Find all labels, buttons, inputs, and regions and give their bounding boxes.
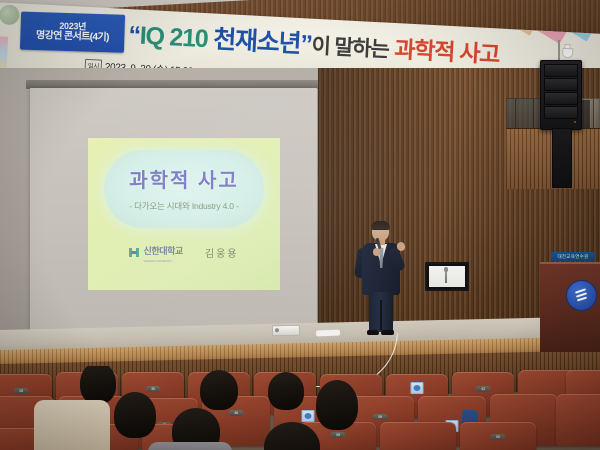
seat[interactable]: 60	[460, 422, 536, 450]
headline-genius-boy: 천재소년	[213, 26, 302, 59]
monitor-mic-stand-image	[445, 270, 447, 283]
seat-number: 59	[373, 414, 388, 420]
audience-seating: 28 29 30 31 32 43 44	[0, 366, 600, 450]
seat-sticker	[411, 382, 424, 394]
slide-subtitle: - 다가오는 시대와 Industry 4.0 -	[88, 200, 280, 212]
university-mark-icon	[129, 247, 140, 258]
seat[interactable]	[556, 394, 600, 446]
banner-left-ribbon	[0, 36, 8, 71]
speaker-left-shoe	[367, 330, 379, 335]
audience-person-head	[316, 380, 358, 430]
seat-number: 30	[146, 386, 161, 392]
emblem-marks	[573, 287, 590, 304]
slide-presenter-name: 김웅용	[205, 245, 239, 260]
glasses-icon	[373, 229, 388, 233]
slide-title: 과학적 사고	[88, 164, 280, 193]
speaker-power-led	[574, 121, 576, 123]
podium-sign: 대전교육연수원	[551, 252, 595, 261]
speaker-leg-split	[380, 300, 382, 330]
line-array-speaker	[540, 60, 582, 130]
speaker-right-shoe	[381, 330, 394, 335]
auditorium-photo: 2023년 명강연 콘서트(4기) “IQ 210 천재소년”이 말하는 과학적…	[0, 0, 600, 450]
university-logo: 신한대학교 SHINHAN UNIVERSITY	[129, 241, 182, 263]
line-array-speaker-lower	[552, 128, 572, 188]
university-name-block: 신한대학교 SHINHAN UNIVERSITY	[143, 241, 182, 263]
audience-person-body	[148, 442, 232, 450]
audience-person-head	[114, 392, 156, 438]
seat-number: 46	[229, 410, 244, 416]
banner-badge: 2023년 명강연 콘서트(4기)	[20, 12, 125, 53]
projected-slide: 과학적 사고 - 다가오는 시대와 Industry 4.0 - 신한대학교 S…	[88, 138, 280, 290]
flask-icon	[562, 44, 572, 56]
seat-sticker	[302, 410, 315, 422]
slide-footer: 신한대학교 SHINHAN UNIVERSITY 김웅용	[88, 241, 280, 263]
seat-number: 59	[331, 432, 346, 438]
audience-person-head	[80, 366, 116, 404]
audience-person-body	[34, 400, 110, 450]
banner-badge-series: 명강연 콘서트(4기)	[36, 30, 109, 43]
seat[interactable]	[380, 422, 456, 450]
speaker-hanging-rod	[558, 40, 560, 62]
seat-number: 43	[476, 386, 491, 392]
projector-lens-icon	[275, 328, 279, 332]
headline-said: 이 말하는	[311, 35, 389, 62]
podium-emblem-icon	[566, 280, 597, 311]
audience-person-head	[200, 370, 238, 410]
seat-number: 28	[14, 388, 29, 394]
audience-person-head	[268, 372, 304, 410]
speaker-person	[352, 222, 410, 340]
seat-number: 60	[491, 434, 506, 440]
speaker-left-hand	[373, 248, 380, 256]
banner-corner-logo	[0, 4, 20, 25]
university-name-en: SHINHAN UNIVERSITY	[143, 259, 182, 263]
headline-iq: IQ 210	[139, 22, 208, 54]
confidence-monitor	[425, 262, 469, 291]
university-name: 신한대학교	[143, 246, 182, 256]
